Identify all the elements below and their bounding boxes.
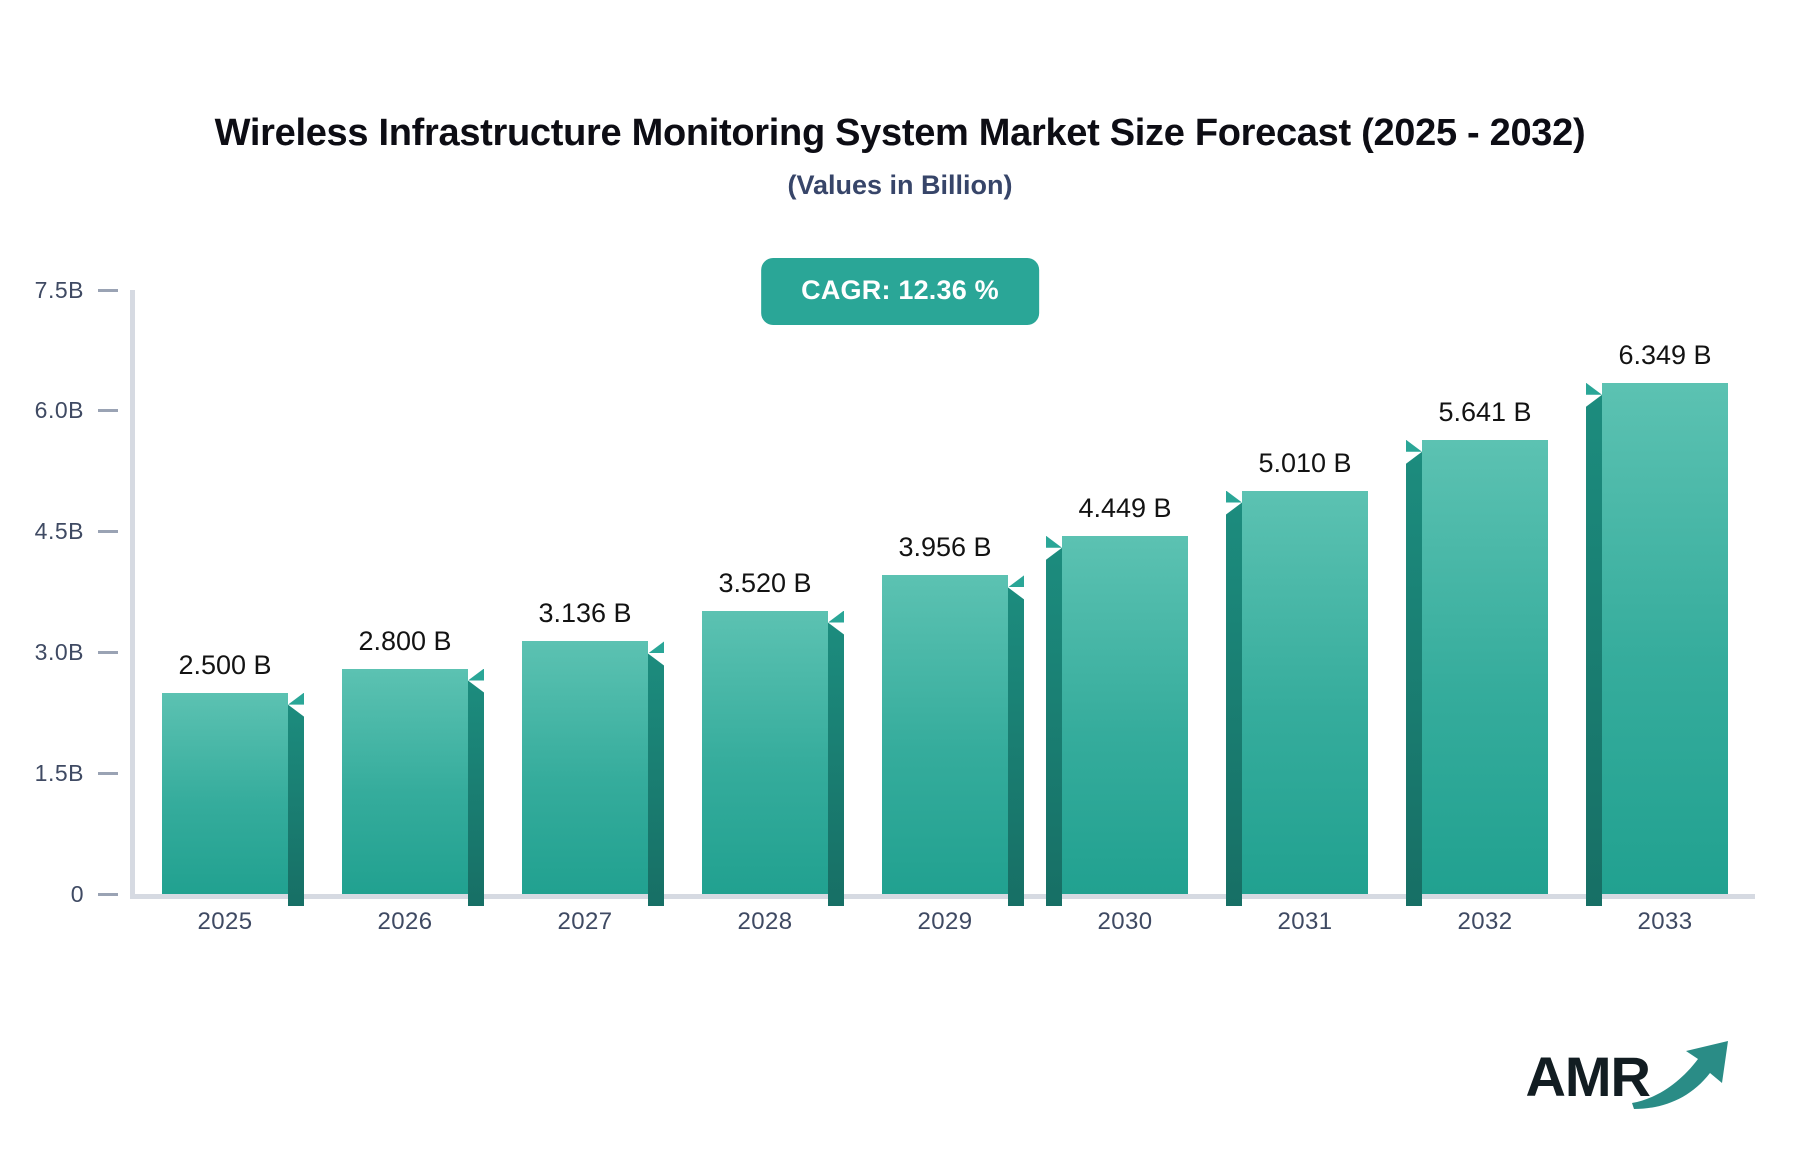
bar-2026[interactable]: 2.800 B — [342, 669, 468, 894]
bar-side-3d — [1046, 548, 1062, 906]
x-tick-label: 2028 — [675, 908, 855, 936]
bar-face: 3.956 B — [882, 575, 1008, 894]
bar-top-3d — [1046, 536, 1062, 548]
bar-face: 5.641 B — [1422, 440, 1548, 894]
y-tick-dash — [98, 289, 118, 292]
chart-page: Wireless Infrastructure Monitoring Syste… — [0, 0, 1800, 1156]
bar-top-3d — [468, 669, 484, 681]
bar-top-3d — [648, 641, 664, 653]
bar-top-3d — [1226, 491, 1242, 503]
x-tick-label: 2030 — [1035, 908, 1215, 936]
page-subtitle: (Values in Billion) — [0, 170, 1800, 201]
y-tick-label: 0 — [71, 881, 84, 908]
bar-side-3d — [828, 623, 844, 906]
bar-side-3d — [1008, 587, 1024, 906]
bar-value-label: 3.520 B — [718, 568, 811, 599]
x-tick-label: 2033 — [1575, 908, 1755, 936]
y-tick-label: 6.0B — [35, 397, 84, 424]
bar-slot: 3.956 B — [855, 290, 1035, 894]
bar-top-3d — [1008, 575, 1024, 587]
bar-slot: 5.641 B — [1395, 290, 1575, 894]
bar-value-label: 3.136 B — [538, 598, 631, 629]
y-tick-dash — [98, 893, 118, 896]
bar-slot: 3.136 B — [495, 290, 675, 894]
bar-series: 2.500 B2.800 B3.136 B3.520 B3.956 B4.449… — [135, 290, 1755, 894]
bar-slot: 4.449 B — [1035, 290, 1215, 894]
bar-2032[interactable]: 5.641 B — [1422, 440, 1548, 894]
bar-top-3d — [1406, 440, 1422, 452]
y-tick-label: 1.5B — [35, 760, 84, 787]
bar-face: 3.136 B — [522, 641, 648, 894]
bar-face: 6.349 B — [1602, 383, 1728, 894]
bar-side-3d — [468, 681, 484, 906]
bar-value-label: 5.641 B — [1438, 397, 1531, 428]
bar-face: 2.800 B — [342, 669, 468, 894]
bar-slot: 2.800 B — [315, 290, 495, 894]
x-tick-label: 2031 — [1215, 908, 1395, 936]
bar-value-label: 3.956 B — [898, 532, 991, 563]
bar-side-3d — [1406, 452, 1422, 906]
growth-arrow-icon — [1628, 1033, 1738, 1116]
bar-top-3d — [828, 611, 844, 623]
bar-2030[interactable]: 4.449 B — [1062, 536, 1188, 894]
bar-slot: 6.349 B — [1575, 290, 1755, 894]
bar-2029[interactable]: 3.956 B — [882, 575, 1008, 894]
y-tick-dash — [98, 409, 118, 412]
x-axis-line — [130, 894, 1755, 899]
bar-slot: 5.010 B — [1215, 290, 1395, 894]
x-axis-labels: 202520262027202820292030203120322033 — [135, 908, 1755, 936]
bar-side-3d — [288, 705, 304, 906]
bar-face: 5.010 B — [1242, 491, 1368, 894]
bar-value-label: 6.349 B — [1618, 340, 1711, 371]
y-tick-label: 4.5B — [35, 518, 84, 545]
bar-2027[interactable]: 3.136 B — [522, 641, 648, 894]
bar-side-3d — [1226, 503, 1242, 906]
x-tick-label: 2027 — [495, 908, 675, 936]
y-tick-dash — [98, 530, 118, 533]
bar-side-3d — [1586, 395, 1602, 906]
y-tick-dash — [98, 772, 118, 775]
bar-value-label: 2.800 B — [358, 626, 451, 657]
bar-face: 4.449 B — [1062, 536, 1188, 894]
bar-face: 3.520 B — [702, 611, 828, 894]
y-tick-label: 3.0B — [35, 639, 84, 666]
bar-2028[interactable]: 3.520 B — [702, 611, 828, 894]
bar-side-3d — [648, 653, 664, 906]
bar-value-label: 5.010 B — [1258, 448, 1351, 479]
x-tick-label: 2026 — [315, 908, 495, 936]
bar-2031[interactable]: 5.010 B — [1242, 491, 1368, 894]
bar-top-3d — [288, 693, 304, 705]
bar-face: 2.500 B — [162, 693, 288, 894]
plot-area: 01.5B3.0B4.5B6.0B7.5B 2.500 B2.800 B3.13… — [130, 290, 1755, 894]
bar-slot: 2.500 B — [135, 290, 315, 894]
bar-2033[interactable]: 6.349 B — [1602, 383, 1728, 894]
bar-slot: 3.520 B — [675, 290, 855, 894]
bar-top-3d — [1586, 383, 1602, 395]
bar-value-label: 4.449 B — [1078, 493, 1171, 524]
x-tick-label: 2025 — [135, 908, 315, 936]
y-tick-label: 7.5B — [35, 277, 84, 304]
bar-2025[interactable]: 2.500 B — [162, 693, 288, 894]
x-tick-label: 2029 — [855, 908, 1035, 936]
y-tick-dash — [98, 651, 118, 654]
bar-value-label: 2.500 B — [178, 650, 271, 681]
page-title: Wireless Infrastructure Monitoring Syste… — [0, 112, 1800, 155]
amr-logo: AMR — [1525, 1034, 1738, 1120]
x-tick-label: 2032 — [1395, 908, 1575, 936]
